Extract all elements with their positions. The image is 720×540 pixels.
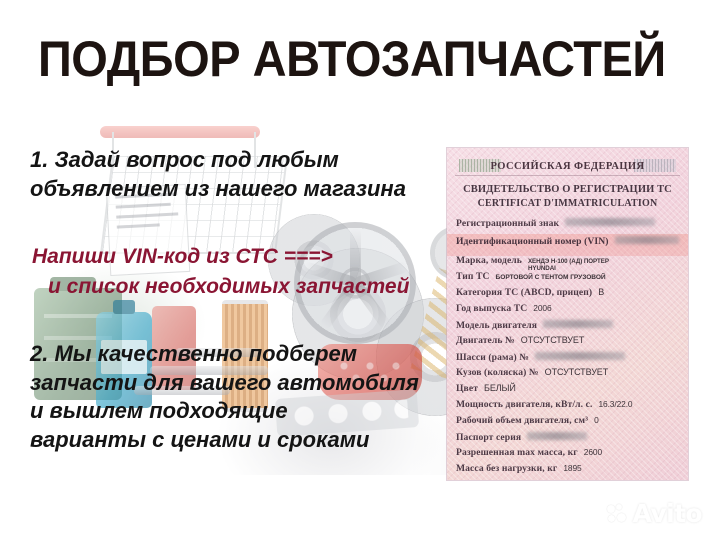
redacted-value — [565, 218, 655, 226]
certificate-field-row: Идентификационный номер (VIN) — [456, 236, 679, 252]
certificate-field-label: Год выпуска ТС — [456, 304, 527, 314]
page-title: ПОДБОР АВТОЗАПЧАСТЕЙ — [38, 34, 649, 84]
certificate-field-label: Идентификационный номер (VIN) — [456, 237, 609, 247]
vin-highlight-band: Идентификационный номер (VIN) — [447, 234, 688, 256]
certificate-field-value: ОТСУТСТВУЕТ — [545, 368, 608, 377]
certificate-field-value: 2600 — [584, 448, 602, 456]
certificate-field-label: Масса без нагрузки, кг — [456, 464, 557, 474]
certificate-field-row: Кузов (коляска) №ОТСУТСТВУЕТ — [456, 368, 679, 384]
vehicle-registration-certificate: РОССИЙСКАЯ ФЕДЕРАЦИЯ СВИДЕТЕЛЬСТВО О РЕГ… — [447, 148, 688, 480]
redacted-value — [543, 320, 613, 328]
certificate-field-label: Марка, модель — [456, 256, 522, 266]
step-one-text: 1. Задай вопрос под любым объявлением из… — [30, 146, 430, 203]
certificate-field-row: Масса без нагрузки, кг1895 — [456, 464, 679, 480]
certificate-field-value: БЕЛЫЙ — [484, 384, 516, 393]
certificate-title-ru: СВИДЕТЕЛЬСТВО О РЕГИСТРАЦИИ ТС — [453, 183, 682, 197]
certificate-field-row: Шасси (рама) № — [456, 352, 679, 368]
certificate-title: СВИДЕТЕЛЬСТВО О РЕГИСТРАЦИИ ТС CERTIFICA… — [453, 183, 682, 210]
avito-watermark: Avito — [607, 501, 702, 526]
certificate-field-value: БОРТОВОЙ С ТЕНТОМ ГРУЗОВОЙ — [496, 275, 606, 282]
vin-callout-line-1: Напиши VIN-код из СТС ===> — [32, 242, 452, 272]
certificate-field-row: Регистрационный знак — [456, 218, 679, 234]
step-two-line-2: запчасти для вашего автомобиля — [30, 369, 460, 398]
avito-logo-icon — [607, 504, 628, 523]
certificate-field-label: Паспорт серия — [456, 433, 521, 443]
certificate-federation-band: РОССИЙСКАЯ ФЕДЕРАЦИЯ — [455, 158, 680, 176]
certificate-field-label: Двигатель № — [456, 336, 515, 346]
certificate-field-row: Двигатель №ОТСУТСТВУЕТ — [456, 336, 679, 352]
certificate-field-label: Модель двигателя — [456, 321, 537, 331]
certificate-field-row: Рабочий объем двигателя, см³0 — [456, 416, 679, 432]
certificate-field-label: Тип ТС — [456, 272, 490, 282]
certificate-field-label: Категория ТС (ABCD, прицеп) — [456, 288, 592, 298]
step-two-text: 2. Мы качественно подберем запчасти для … — [30, 340, 460, 454]
certificate-title-fr: CERTIFICAT D'IMMATRICULATION — [453, 197, 682, 210]
certificate-field-value: ХЕНДЭ Н-100 (АД) ПОРТЕР HYUNDAI — [528, 258, 609, 272]
certificate-field-value: ОТСУТСТВУЕТ — [521, 336, 584, 345]
step-two-line-3: и вышлем подходящие — [30, 397, 460, 426]
certificate-field-row: Категория ТС (ABCD, прицеп)В — [456, 288, 679, 304]
step-one-line-2: объявлением из нашего магазина — [30, 175, 430, 204]
poster-canvas: ПОДБОР АВТОЗАПЧАСТЕЙ 1. Задай вопрос под… — [0, 0, 720, 540]
certificate-field-row: Мощность двигателя, кВт/л. с.16.3/22.0 — [456, 400, 679, 416]
certificate-field-value: В — [598, 288, 604, 297]
certificate-field-value: 2006 — [533, 304, 551, 312]
certificate-field-row: Марка, модельХЕНДЭ Н-100 (АД) ПОРТЕР HYU… — [456, 256, 679, 272]
redacted-value — [535, 352, 625, 360]
certificate-field-label: Мощность двигателя, кВт/л. с. — [456, 400, 592, 410]
certificate-field-label: Разрешенная max масса, кг — [456, 448, 578, 458]
certificate-field-label: Рабочий объем двигателя, см³ — [456, 416, 588, 426]
step-two-line-4: варианты с ценами и сроками — [30, 426, 460, 455]
certificate-field-row: Разрешенная max масса, кг2600 — [456, 448, 679, 464]
certificate-federation-label: РОССИЙСКАЯ ФЕДЕРАЦИЯ — [491, 161, 645, 172]
vin-callout-text: Напиши VIN-код из СТС ===> и список необ… — [32, 242, 452, 302]
certificate-field-label: Цвет — [456, 384, 478, 394]
redacted-value — [615, 236, 679, 244]
certificate-field-row: ЦветБЕЛЫЙ — [456, 384, 679, 400]
certificate-field-list: Регистрационный знакИдентификационный но… — [447, 218, 688, 480]
redacted-value — [527, 432, 587, 440]
certificate-field-value: 0 — [594, 416, 599, 424]
vin-callout-line-2: и список необходимых запчастей — [32, 272, 452, 302]
step-two-line-1: 2. Мы качественно подберем — [30, 340, 460, 369]
certificate-field-row: Год выпуска ТС2006 — [456, 304, 679, 320]
certificate-field-label: Кузов (коляска) № — [456, 368, 539, 378]
certificate-field-row: Тип ТСБОРТОВОЙ С ТЕНТОМ ГРУЗОВОЙ — [456, 272, 679, 288]
cart-handle-graphic — [100, 126, 260, 138]
certificate-field-value: 1895 — [563, 464, 581, 472]
certificate-field-value: 16.3/22.0 — [598, 400, 632, 408]
certificate-field-label: Шасси (рама) № — [456, 353, 529, 363]
certificate-field-row: Модель двигателя — [456, 320, 679, 336]
certificate-field-label: Регистрационный знак — [456, 219, 559, 229]
certificate-field-row: Паспорт серия — [456, 432, 679, 448]
step-one-line-1: 1. Задай вопрос под любым — [30, 146, 430, 175]
avito-wordmark: Avito — [633, 501, 702, 526]
